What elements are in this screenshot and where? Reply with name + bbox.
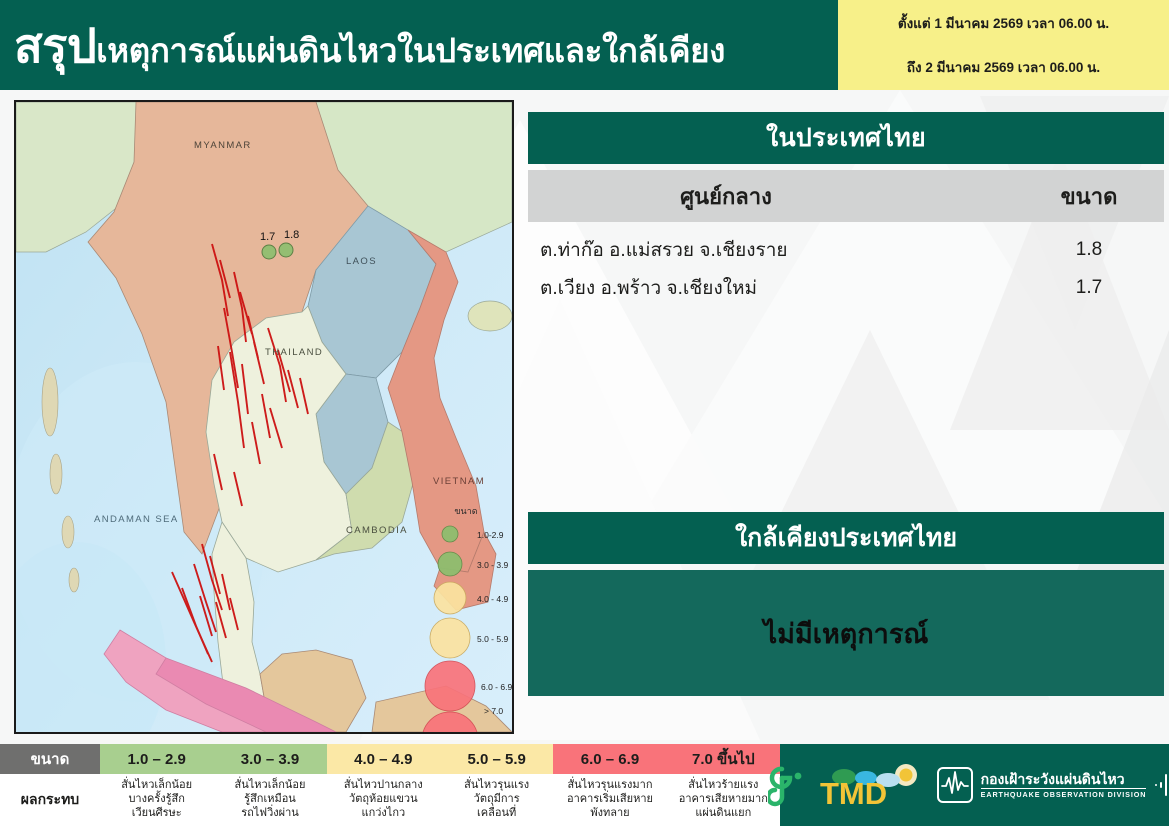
scale-range-cell-6: 7.0 ขึ้นไป: [667, 744, 780, 774]
table-header-row: ศูนย์กลาง ขนาด: [528, 170, 1164, 222]
effect-line: สั่นไหวเล็กน้อย: [121, 779, 192, 793]
nearby-section-title: ใกล้เคียงประเทศไทย: [528, 512, 1164, 564]
footer-logo-area: TMD กองเฝ้าระวังแผ่นดินไหว EARTHQUAKE OB…: [780, 744, 1169, 826]
division-name-th: กองเฝ้าระวังแผ่นดินไหว: [981, 772, 1147, 786]
table-row[interactable]: ต.เวียง อ.พร้าว จ.เชียงใหม่ 1.7: [528, 272, 1164, 304]
scale-effect-cell-5: สั่นไหวรุนแรงมาก อาคารเริ่มเสียหาย พังทล…: [553, 774, 666, 826]
effect-line: เคลื่อนที่: [477, 807, 516, 821]
waveform-icon: [1153, 770, 1169, 800]
scale-effect-cell-3: สั่นไหวปานกลาง วัตถุห้อยแขวน แกว่งไกว: [327, 774, 440, 826]
eq-division-logo[interactable]: กองเฝ้าระวังแผ่นดินไหว EARTHQUAKE OBSERV…: [936, 766, 1169, 804]
page-title: สรุป เหตุการณ์แผ่นดินไหวในประเทศและใกล้เ…: [14, 22, 725, 69]
effect-line: อาคารเสียหายมาก: [679, 793, 768, 807]
svg-text:THAILAND: THAILAND: [265, 347, 323, 358]
scale-effect-row: ผลกระทบ สั่นไหวเล็กน้อย บางครั้งรู้สึก เ…: [0, 774, 780, 826]
svg-text:3.0 - 3.9: 3.0 - 3.9: [477, 560, 508, 570]
svg-text:1.7: 1.7: [260, 231, 275, 243]
svg-text:TMD: TMD: [820, 776, 887, 808]
effect-line: พังทลาย: [590, 807, 629, 821]
svg-text:LAOS: LAOS: [346, 256, 377, 267]
scale-range-cell-5: 6.0 – 6.9: [553, 744, 666, 774]
svg-text:> 7.0: > 7.0: [484, 706, 503, 716]
effect-line: สั่นไหวรุนแรง: [464, 779, 529, 793]
effect-line: วัตถุห้อยแขวน: [349, 793, 418, 807]
effect-line: สั่นไหวร้ายแรง: [688, 779, 758, 793]
effect-line: รู้สึกเหมือน: [244, 793, 296, 807]
column-header-epicenter: ศูนย์กลาง: [528, 179, 1014, 214]
header-bar: สรุป เหตุการณ์แผ่นดินไหวในประเทศและใกล้เ…: [0, 0, 1169, 90]
earthquake-map[interactable]: 1.7 1.8 MYANMAR LAOS THAILAND VIETNAM CA…: [14, 100, 514, 734]
domestic-panel: ในประเทศไทย ศูนย์กลาง ขนาด ต.ท่าก๊อ อ.แม…: [528, 112, 1164, 310]
cell-magnitude: 1.7: [1014, 277, 1164, 299]
svg-text:1.8: 1.8: [284, 229, 299, 241]
tmd-wordmark-icon: TMD: [814, 762, 926, 808]
nearby-no-event-panel: ไม่มีเหตุการณ์: [528, 570, 1164, 696]
magnitude-scale-legend: ขนาด 1.0 – 2.9 3.0 – 3.9 4.0 – 4.9 5.0 –…: [0, 744, 1169, 826]
no-event-text: ไม่มีเหตุการณ์: [764, 612, 929, 655]
effect-line: แผ่นดินแยก: [695, 807, 751, 821]
svg-text:6.0 - 6.9: 6.0 - 6.9: [481, 682, 512, 692]
eq-division-texts: กองเฝ้าระวังแผ่นดินไหว EARTHQUAKE OBSERV…: [981, 772, 1147, 798]
scale-table: ขนาด 1.0 – 2.9 3.0 – 3.9 4.0 – 4.9 5.0 –…: [0, 744, 780, 826]
effect-line: สั่นไหวปานกลาง: [344, 779, 423, 793]
column-header-magnitude: ขนาด: [1014, 179, 1164, 214]
effect-line: สั่นไหวเล็กน้อย: [235, 779, 306, 793]
header-title-block: สรุป เหตุการณ์แผ่นดินไหวในประเทศและใกล้เ…: [0, 0, 838, 90]
seismograph-icon: [936, 766, 974, 804]
svg-text:ANDAMAN SEA: ANDAMAN SEA: [94, 514, 179, 525]
scale-range-cell-2: 3.0 – 3.9: [213, 744, 326, 774]
date-from: ตั้งแต่ 1 มีนาคม 2569 เวลา 06.00 น.: [898, 12, 1109, 34]
domestic-section-title: ในประเทศไทย: [528, 112, 1164, 164]
domestic-table-body: ต.ท่าก๊อ อ.แม่สรวย จ.เชียงราย 1.8 ต.เวีย…: [528, 222, 1164, 304]
scale-range-row: ขนาด 1.0 – 2.9 3.0 – 3.9 4.0 – 4.9 5.0 –…: [0, 744, 780, 774]
svg-text:CAMBODIA: CAMBODIA: [346, 525, 408, 536]
tmd-mark-icon: [768, 763, 810, 807]
scale-row-label-magnitude: ขนาด: [0, 744, 100, 774]
page-title-rest: เหตุการณ์แผ่นดินไหวในประเทศและใกล้เคียง: [96, 34, 725, 67]
svg-text:1.0-2.9: 1.0-2.9: [477, 530, 504, 540]
header-date-block: ตั้งแต่ 1 มีนาคม 2569 เวลา 06.00 น. ถึง …: [838, 0, 1169, 90]
cell-epicenter: ต.ท่าก๊อ อ.แม่สรวย จ.เชียงราย: [528, 235, 1014, 265]
scale-effect-cell-4: สั่นไหวรุนแรง วัตถุมีการ เคลื่อนที่: [440, 774, 553, 826]
date-to: ถึง 2 มีนาคม 2569 เวลา 06.00 น.: [907, 56, 1100, 78]
scale-effect-cell-2: สั่นไหวเล็กน้อย รู้สึกเหมือน รถไฟวิ่งผ่า…: [213, 774, 326, 826]
effect-line: บางครั้งรู้สึก: [128, 793, 184, 807]
effect-line: อาคารเริ่มเสียหาย: [567, 793, 653, 807]
svg-text:4.0 - 4.9: 4.0 - 4.9: [477, 594, 508, 604]
page-title-strong: สรุป: [14, 22, 96, 69]
svg-text:VIETNAM: VIETNAM: [433, 476, 485, 487]
infographic-root: สรุป เหตุการณ์แผ่นดินไหวในประเทศและใกล้เ…: [0, 0, 1169, 826]
tmd-logo[interactable]: TMD: [768, 762, 926, 808]
scale-row-label-effect: ผลกระทบ: [0, 774, 100, 826]
division-name-en: EARTHQUAKE OBSERVATION DIVISION: [981, 788, 1147, 798]
svg-text:ขนาด: ขนาด: [454, 506, 477, 516]
effect-line: แกว่งไกว: [361, 807, 405, 821]
scale-range-cell-3: 4.0 – 4.9: [327, 744, 440, 774]
svg-text:5.0 - 5.9: 5.0 - 5.9: [477, 634, 508, 644]
scale-effect-cell-1: สั่นไหวเล็กน้อย บางครั้งรู้สึก เวียนศีรษ…: [100, 774, 213, 826]
scale-range-cell-1: 1.0 – 2.9: [100, 744, 213, 774]
scale-range-cell-4: 5.0 – 5.9: [440, 744, 553, 774]
effect-line: เวียนศีรษะ: [132, 807, 182, 821]
table-row[interactable]: ต.ท่าก๊อ อ.แม่สรวย จ.เชียงราย 1.8: [528, 234, 1164, 266]
scale-effect-cell-6: สั่นไหวร้ายแรง อาคารเสียหายมาก แผ่นดินแย…: [667, 774, 780, 826]
effect-line: วัตถุมีการ: [474, 793, 520, 807]
effect-line: รถไฟวิ่งผ่าน: [241, 807, 299, 821]
svg-text:MYANMAR: MYANMAR: [194, 140, 252, 151]
cell-magnitude: 1.8: [1014, 239, 1164, 261]
cell-epicenter: ต.เวียง อ.พร้าว จ.เชียงใหม่: [528, 273, 1014, 303]
effect-line: สั่นไหวรุนแรงมาก: [567, 779, 652, 793]
